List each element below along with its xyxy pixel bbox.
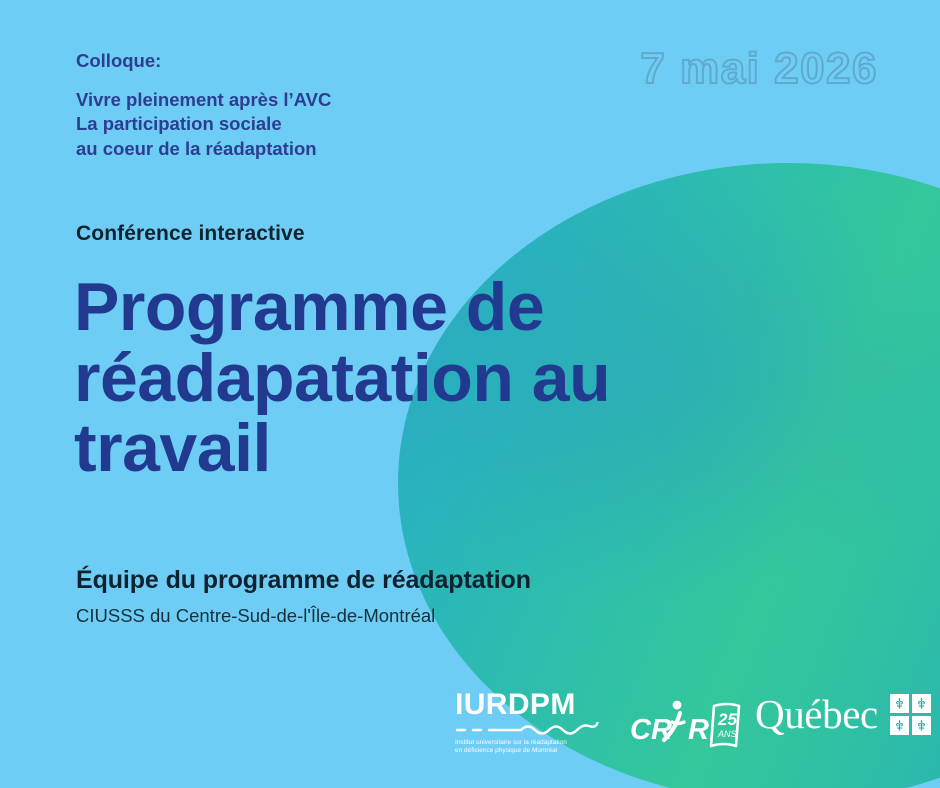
svg-text:ANS: ANS [717, 729, 737, 739]
iurdpm-tagline-line-1: Institut universitaire sur la réadaptati… [455, 739, 605, 747]
presenter-block: Équipe du programme de réadaptation CIUS… [76, 566, 776, 627]
fleur-de-lis-cell [912, 716, 931, 735]
presenter-team: Équipe du programme de réadaptation [76, 566, 776, 595]
colloque-block: Colloque: Vivre pleinement après l’AVC L… [76, 52, 331, 158]
iurdpm-logo: IURDPM Institut universitaire sur la réa… [455, 690, 605, 756]
session-type-kicker: Conférence interactive [76, 222, 305, 246]
presenter-organization: CIUSSS du Centre-Sud-de-l'Île-de-Montréa… [76, 605, 776, 627]
poster-canvas: 7 mai 2026 Colloque: Vivre pleinement ap… [0, 0, 940, 788]
quebec-logo: Québec [755, 694, 931, 735]
fleur-de-lis-cell [890, 694, 909, 713]
quebec-flag-icon [890, 694, 931, 735]
fleur-de-lis-cell [890, 716, 909, 735]
event-date: 7 mai 2026 [640, 44, 878, 94]
fleur-de-lis-icon [894, 719, 905, 732]
colloque-label: Colloque: [76, 52, 331, 71]
fleur-de-lis-cell [912, 694, 931, 713]
svg-text:25: 25 [717, 710, 737, 729]
crir-logo: CR R 25 ANS [630, 692, 745, 752]
colloque-title-line-1: Vivre pleinement après l’AVC [76, 91, 331, 110]
colloque-title-line-2: La participation sociale [76, 115, 331, 134]
colloque-title-line-3: au coeur de la réadaptation [76, 140, 331, 159]
fleur-de-lis-icon [916, 697, 927, 710]
iurdpm-wordmark: IURDPM [455, 690, 605, 720]
fleur-de-lis-icon [894, 697, 905, 710]
iurdpm-tagline-line-2: en déficience physique de Montréal [455, 747, 605, 755]
svg-text:R: R [688, 714, 709, 746]
crir-mark-icon: CR R 25 ANS [630, 692, 745, 752]
logo-strip: IURDPM Institut universitaire sur la réa… [455, 686, 915, 758]
iurdpm-wave-icon [455, 722, 605, 736]
quebec-wordmark: Québec [755, 694, 878, 735]
session-title: Programme de réadapatation au travail [74, 272, 754, 484]
fleur-de-lis-icon [916, 719, 927, 732]
